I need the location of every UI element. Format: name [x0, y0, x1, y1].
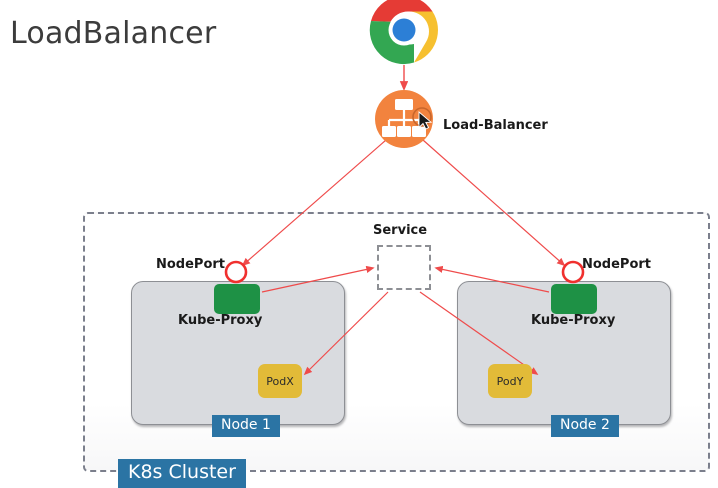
pod-x[interactable]: PodX — [258, 364, 302, 398]
service-label: Service — [373, 223, 427, 238]
chrome-logo-icon — [370, 0, 438, 64]
page-title: LoadBalancer — [10, 16, 216, 51]
nodeport-2-label: NodePort — [582, 257, 651, 272]
service-box[interactable] — [377, 245, 431, 290]
mouse-pointer-cursor — [413, 108, 431, 129]
kube-proxy-1-label: Kube-Proxy — [178, 313, 262, 328]
k8s-cluster-badge: K8s Cluster — [118, 459, 246, 488]
node-1-badge: Node 1 — [212, 415, 280, 437]
node-2-badge: Node 2 — [551, 415, 619, 437]
kube-proxy-2-block-icon[interactable] — [551, 284, 597, 314]
pod-y[interactable]: PodY — [488, 364, 532, 398]
kube-proxy-1-block-icon[interactable] — [214, 284, 260, 314]
diagram-canvas: LoadBalancer — [0, 0, 718, 488]
load-balancer-hierarchy-icon[interactable] — [375, 90, 433, 148]
nodeport-1-label: NodePort — [156, 257, 225, 272]
load-balancer-label: Load-Balancer — [443, 118, 548, 133]
kube-proxy-2-label: Kube-Proxy — [531, 313, 615, 328]
